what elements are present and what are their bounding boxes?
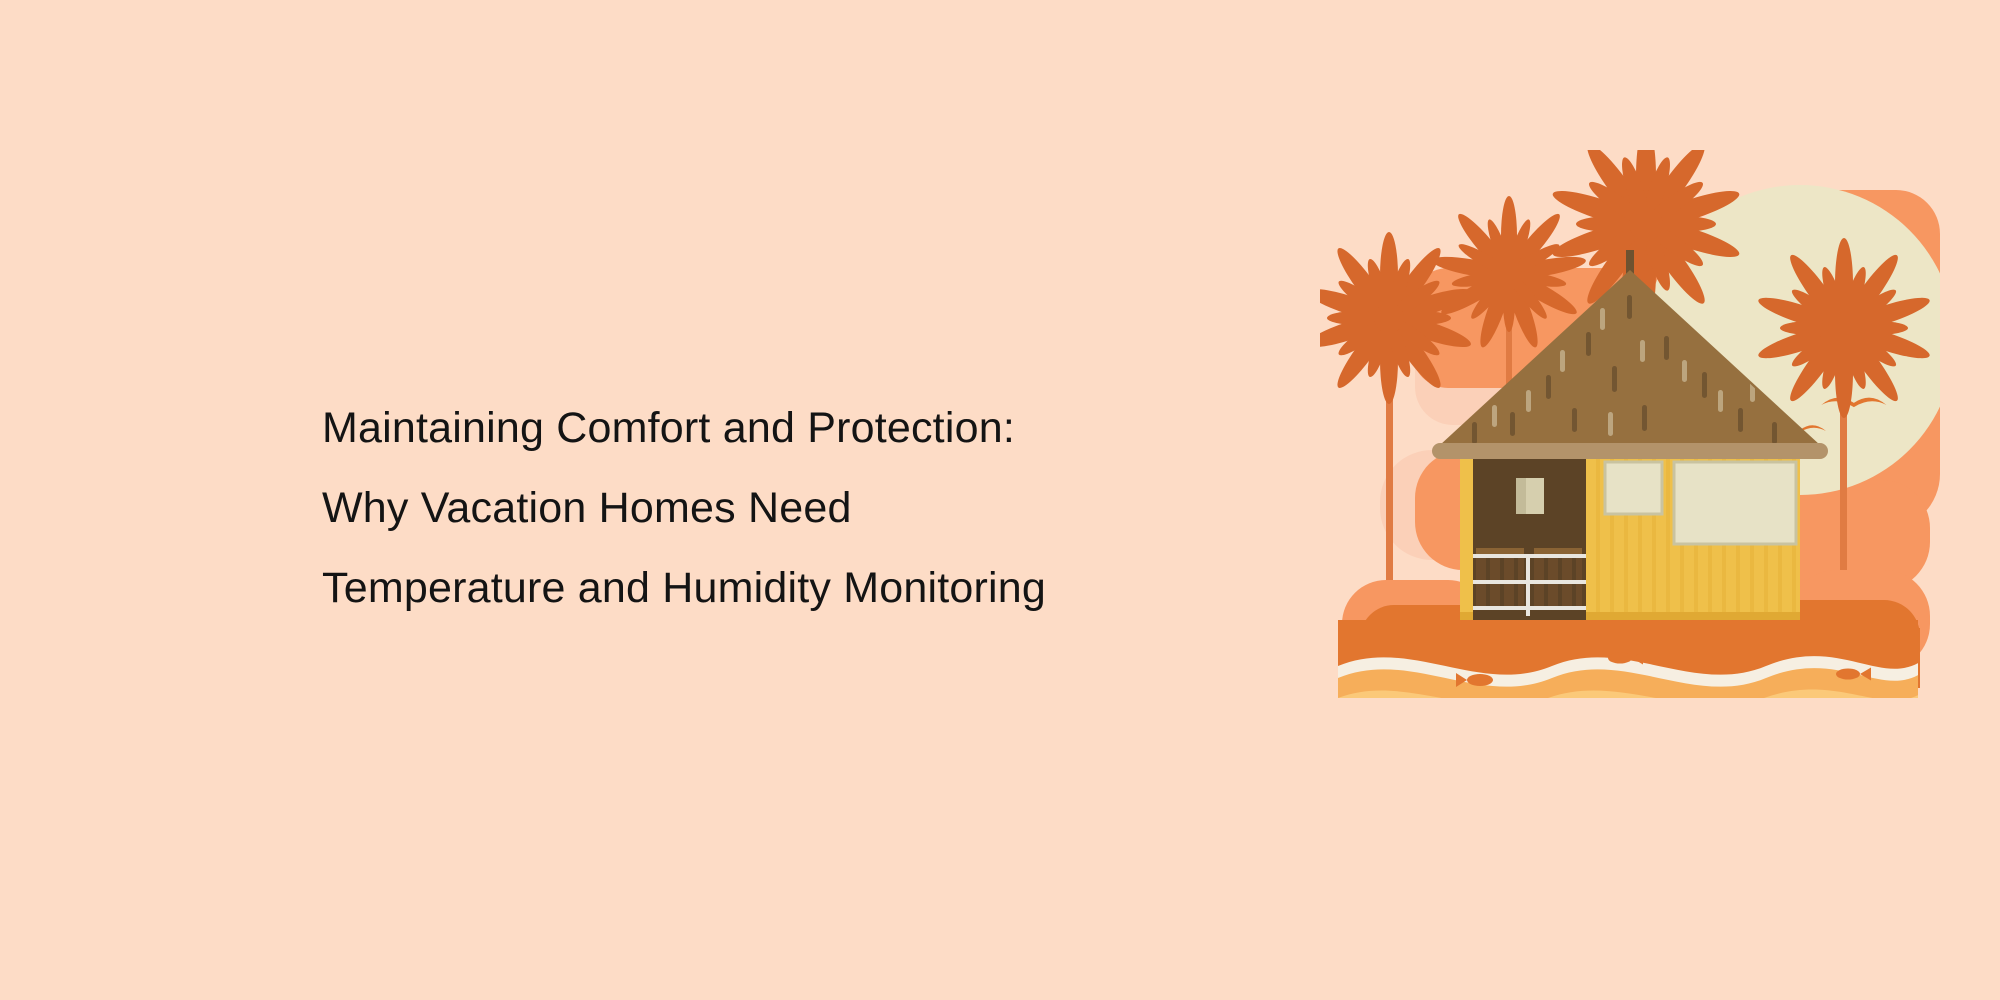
headline-line-1: Maintaining Comfort and Protection: xyxy=(322,388,1302,468)
water-waves xyxy=(1338,620,1920,710)
headline-line-2: Why Vacation Homes Need xyxy=(322,468,1302,548)
porch-railing xyxy=(1473,548,1586,616)
bungalow-walls xyxy=(1460,450,1800,620)
hero-banner: Maintaining Comfort and Protection: Why … xyxy=(0,0,2000,1000)
headline-line-3: Temperature and Humidity Monitoring xyxy=(322,548,1302,628)
front-window-large xyxy=(1674,462,1796,544)
front-window-small xyxy=(1605,462,1662,514)
tropical-beach-bungalow-illustration xyxy=(1320,150,1940,710)
illustration-svg xyxy=(1320,150,1940,710)
page-title: Maintaining Comfort and Protection: Why … xyxy=(322,388,1302,628)
